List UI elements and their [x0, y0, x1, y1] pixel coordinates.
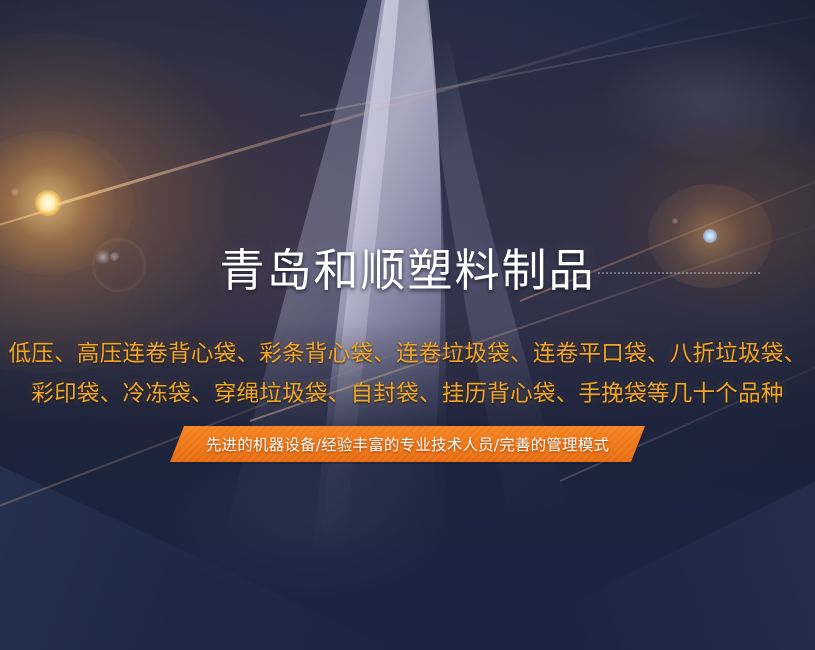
title-dotted-rule	[598, 272, 760, 276]
product-list-line-2: 彩印袋、冷冻袋、穿绳垃圾袋、自封袋、挂历背心袋、手挽袋等几十个品种	[0, 374, 815, 414]
ribbon-label: 先进的机器设备/经验丰富的专业技术人员/完善的管理模式	[206, 433, 609, 455]
product-list: 低压、高压连卷背心袋、彩条背心袋、连卷垃圾袋、连卷平口袋、八折垃圾袋、 彩印袋、…	[0, 334, 815, 414]
page-title: 青岛和顺塑料制品	[219, 248, 595, 293]
product-list-line-1: 低压、高压连卷背心袋、彩条背心袋、连卷垃圾袋、连卷平口袋、八折垃圾袋、	[0, 334, 815, 374]
highlights-ribbon: 先进的机器设备/经验丰富的专业技术人员/完善的管理模式	[170, 426, 645, 462]
ribbon-wrap: 先进的机器设备/经验丰富的专业技术人员/完善的管理模式	[0, 426, 815, 462]
banner-content: 青岛和顺塑料制品 低压、高压连卷背心袋、彩条背心袋、连卷垃圾袋、连卷平口袋、八折…	[0, 0, 815, 650]
title-row: 青岛和顺塑料制品	[0, 248, 815, 293]
promo-banner: 青岛和顺塑料制品 低压、高压连卷背心袋、彩条背心袋、连卷垃圾袋、连卷平口袋、八折…	[0, 0, 815, 650]
